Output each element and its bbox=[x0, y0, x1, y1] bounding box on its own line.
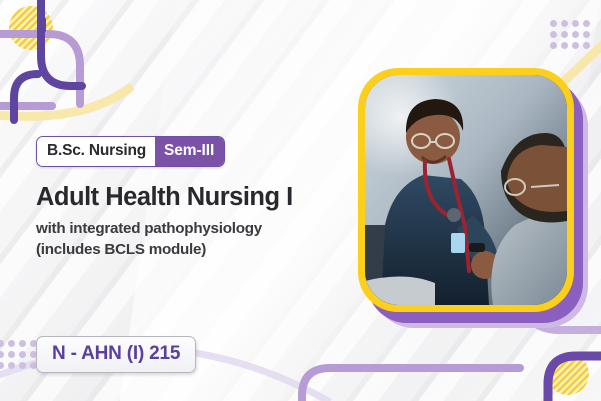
program-semester-badge[interactable]: B.Sc. Nursing Sem-III bbox=[36, 136, 225, 167]
course-title: Adult Health Nursing I bbox=[36, 184, 366, 211]
semester-label: Sem-III bbox=[155, 137, 224, 166]
nurse-patient-illustration bbox=[365, 75, 567, 305]
program-label: B.Sc. Nursing bbox=[37, 137, 155, 166]
dot-grid-top-right bbox=[550, 20, 590, 49]
course-subtitle-line-2: (includes BCLS module) bbox=[36, 240, 366, 261]
course-photo bbox=[358, 68, 574, 312]
course-text-block: B.Sc. Nursing Sem-III Adult Health Nursi… bbox=[36, 136, 366, 261]
course-subtitle: with integrated pathophysiology (include… bbox=[36, 219, 366, 261]
course-subtitle-line-1: with integrated pathophysiology bbox=[36, 219, 366, 240]
dot-grid-bottom-left bbox=[0, 340, 37, 369]
course-code-badge[interactable]: N - AHN (I) 215 bbox=[36, 336, 196, 373]
photo-image bbox=[365, 75, 567, 305]
course-banner-card: B.Sc. Nursing Sem-III Adult Health Nursi… bbox=[0, 0, 601, 401]
